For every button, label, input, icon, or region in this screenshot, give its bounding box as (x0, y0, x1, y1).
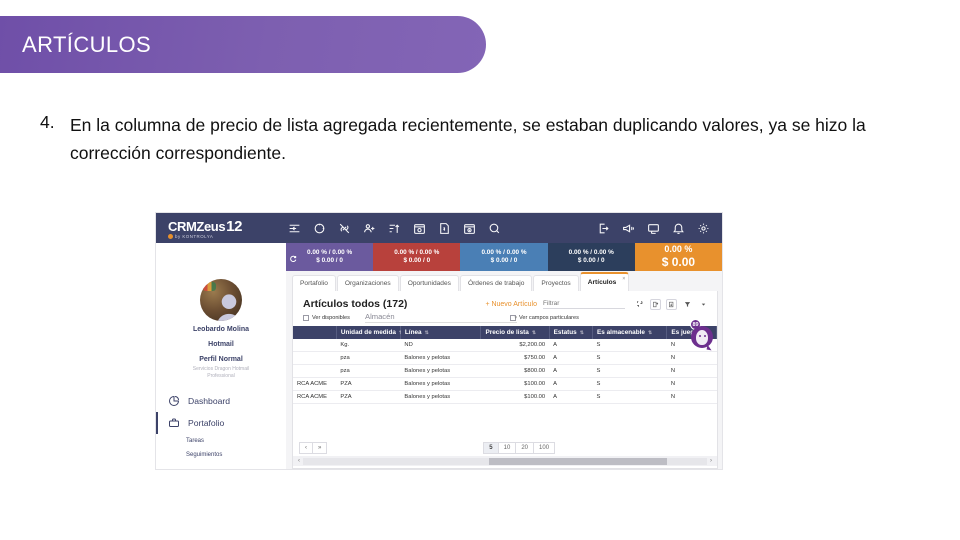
assistant-face-icon (696, 330, 708, 345)
cell-brand: RCA ACME (293, 391, 336, 404)
cell-linea: Balones y pelotas (400, 378, 481, 391)
calendar-search-icon[interactable] (413, 222, 426, 235)
col-label: Línea (405, 329, 422, 336)
pie-chart-icon (168, 395, 180, 407)
col-header-linea[interactable]: Línea⇅ (400, 326, 481, 339)
checkbox-ver-disponibles[interactable]: Ver disponibles (303, 315, 350, 321)
cell-juego: N (667, 352, 717, 365)
articulos-panel: Artículos todos (172) + Nuevo Artículo (292, 291, 718, 469)
tab-oportunidades[interactable]: Oportunidades (400, 275, 459, 291)
cell-estatus: A (549, 391, 592, 404)
brand-name: CRMZeus (168, 219, 225, 234)
kpi-line1: 0.00 % / 0.00 % (481, 249, 526, 257)
chevron-down-icon: ▾ (514, 315, 517, 321)
link-off-icon[interactable] (338, 222, 351, 235)
scroll-right-icon[interactable]: › (707, 458, 715, 464)
kpi-refresh-icon[interactable] (289, 255, 297, 263)
col-label: Unidad de medida (341, 329, 396, 336)
cell-um: pza (336, 352, 400, 365)
user-org: Servicios Dragon Hotmail (156, 366, 286, 374)
logout-icon[interactable] (597, 222, 610, 235)
export-button[interactable] (650, 299, 661, 310)
cell-brand (293, 365, 336, 378)
col-header-estatus[interactable]: Estatus⇅ (549, 326, 592, 339)
tab-label: Órdenes de trabajo (468, 280, 524, 287)
tab-articulos[interactable]: Artículos × (580, 272, 630, 291)
cell-juego: N (667, 365, 717, 378)
kpi-line1: 0.00 % (664, 244, 692, 255)
user-account: Hotmail (156, 340, 286, 351)
cell-brand (293, 339, 336, 352)
cell-almacenable: S (593, 339, 667, 352)
embedded-app-screenshot: CRMZeus12 by KONTROLYA (155, 212, 723, 470)
refresh-icon (636, 301, 643, 308)
kpi-line2: $ 0.00 / 0 (578, 257, 605, 265)
cell-juego: N (667, 378, 717, 391)
page-size-buttons: 5 10 20 100 (483, 442, 554, 454)
filter-button[interactable] (682, 299, 693, 310)
avatar[interactable] (200, 279, 242, 321)
slide-title-banner: ARTÍCULOS (0, 16, 500, 76)
sidebar: Leobardo Molina Hotmail Perfil Normal Se… (156, 271, 286, 469)
table-body: Kg. ND $2,200.00 A S N pza Balones y pel… (293, 339, 717, 404)
kpi-line2: $ 0.00 / 0 (491, 257, 518, 265)
cell-almacenable: S (593, 352, 667, 365)
cell-linea: Balones y pelotas (400, 365, 481, 378)
cell-precio: $100.00 (481, 378, 549, 391)
page-title: ARTÍCULOS (0, 32, 151, 58)
page-size-10[interactable]: 10 (498, 442, 517, 454)
table-row[interactable]: RCA ACME PZA Balones y pelotas $100.00 A… (293, 391, 717, 404)
user-profile: Perfil Normal (156, 355, 286, 366)
cell-um: PZA (336, 391, 400, 404)
cell-brand (293, 352, 336, 365)
chat-screen-icon[interactable] (647, 222, 660, 235)
col-label: Estatus (554, 329, 577, 336)
warehouse-select[interactable]: Almacén ▾ (365, 312, 517, 323)
col-header-precio-de-lista[interactable]: Precio de lista⇅ (481, 326, 549, 339)
table-row[interactable]: RCA ACME PZA Balones y pelotas $100.00 A… (293, 378, 717, 391)
cell-um: pza (336, 365, 400, 378)
checkbox-label: Ver disponibles (312, 315, 350, 321)
tab-label: Organizaciones (345, 280, 391, 287)
collapse-menu-icon[interactable] (288, 222, 301, 235)
invoice-dollar-icon[interactable] (438, 222, 451, 235)
table-row[interactable]: pza Balones y pelotas $800.00 A S N (293, 365, 717, 378)
page-size-100[interactable]: 100 (533, 442, 555, 454)
table-header-row: Unidad de medida⇅ Línea⇅ Precio de lista… (293, 326, 717, 339)
close-icon[interactable]: × (622, 276, 625, 282)
sidebar-item-portafolio[interactable]: Portafolio (156, 412, 286, 434)
new-article-link[interactable]: + Nuevo Artículo (485, 301, 537, 308)
brand-subtitle: by KONTROLYA (175, 234, 213, 239)
cell-almacenable: S (593, 365, 667, 378)
cell-precio: $750.00 (481, 352, 549, 365)
kpi-line2: $ 0.00 / 0 (316, 257, 343, 265)
assistant-widget[interactable]: 89 (687, 319, 713, 349)
kpi-strip-spacer (156, 243, 286, 271)
sidebar-item-label: Portafolio (188, 418, 224, 428)
kpi-line1: 0.00 % / 0.00 % (307, 249, 352, 257)
cell-um: Kg. (336, 339, 400, 352)
sidebar-subitem-seguimientos[interactable]: Seguimientos (156, 448, 286, 462)
cell-um: PZA (336, 378, 400, 391)
megaphone-icon[interactable] (622, 222, 635, 235)
assistant-bubble[interactable] (691, 326, 713, 348)
kpi-card-2[interactable]: 0.00 % / 0.00 % $ 0.00 / 0 (373, 243, 460, 271)
user-plan: Professional (156, 373, 286, 381)
panel-header: Artículos todos (172) + Nuevo Artículo (293, 291, 717, 321)
tab-organizaciones[interactable]: Organizaciones (337, 275, 399, 291)
top-nav-right-icons (597, 222, 716, 235)
tab-proyectos[interactable]: Proyectos (533, 275, 578, 291)
warehouse-select-value: Almacén (365, 312, 395, 321)
prev-page-button[interactable]: ‹ (299, 442, 313, 454)
tab-bar: Portafolio Organizaciones Oportunidades … (288, 271, 722, 291)
tab-label: Oportunidades (408, 280, 451, 287)
top-nav-left-icons (288, 222, 501, 235)
app-logo: CRMZeus12 by KONTROLYA (162, 218, 274, 239)
scroll-left-icon[interactable]: ‹ (295, 458, 303, 464)
export-icon (652, 301, 659, 308)
checkbox-label: Ver campos particulares (519, 315, 579, 321)
chevron-down-icon (700, 301, 707, 308)
col-header-es-almacenable[interactable]: Es almacenable⇅ (593, 326, 667, 339)
scrollbar-thumb[interactable] (489, 458, 667, 465)
col-label: Precio de lista (485, 329, 528, 336)
sort-list-icon[interactable] (388, 222, 401, 235)
filter-icon (684, 301, 691, 308)
scrollbar-track[interactable] (303, 458, 707, 465)
cell-almacenable: S (593, 378, 667, 391)
next-page-button[interactable]: » (312, 442, 327, 454)
sidebar-item-label: Dashboard (188, 396, 230, 406)
import-icon (668, 301, 675, 308)
filter-input[interactable] (543, 300, 625, 309)
cell-precio: $100.00 (481, 391, 549, 404)
kpi-line2: $ 0.00 (662, 255, 695, 270)
tab-label: Artículos (588, 279, 617, 286)
articulos-table: Unidad de medida⇅ Línea⇅ Precio de lista… (293, 326, 717, 404)
tab-ordenes-de-trabajo[interactable]: Órdenes de trabajo (460, 275, 532, 291)
table-row[interactable]: Kg. ND $2,200.00 A S N (293, 339, 717, 352)
cell-brand: RCA ACME (293, 378, 336, 391)
cell-estatus: A (549, 339, 592, 352)
bullet-number: 4. (40, 112, 70, 167)
more-dropdown-button[interactable] (698, 299, 709, 310)
kpi-strip: 0.00 % / 0.00 % $ 0.00 / 0 0.00 % / 0.00… (156, 243, 722, 271)
import-button[interactable] (666, 299, 677, 310)
sidebar-nav: Dashboard Portafolio Tareas Seguimientos (156, 390, 286, 462)
bullet-text: En la columna de precio de lista agregad… (70, 112, 870, 167)
table-row[interactable]: pza Balones y pelotas $750.00 A S N (293, 352, 717, 365)
col-label: Es almacenable (597, 329, 645, 336)
list-title: Artículos todos (172) (303, 298, 407, 310)
add-people-icon[interactable] (363, 222, 376, 235)
page-size-20[interactable]: 20 (515, 442, 534, 454)
checkbox-box-icon (303, 315, 309, 321)
bell-icon[interactable] (672, 222, 685, 235)
bullet-item: 4. En la columna de precio de lista agre… (40, 112, 870, 167)
tab-label: Portafolio (300, 280, 328, 287)
cell-estatus: A (549, 378, 592, 391)
kpi-line1: 0.00 % / 0.00 % (394, 249, 439, 257)
kpi-list: 0.00 % / 0.00 % $ 0.00 / 0 0.00 % / 0.00… (286, 243, 722, 271)
crm-sync-icon[interactable] (313, 222, 326, 235)
tab-label: Proyectos (541, 280, 570, 287)
page-nav-buttons: ‹ » (299, 442, 326, 454)
cell-linea: ND (400, 339, 481, 352)
page-size-5[interactable]: 5 (483, 442, 498, 454)
gear-icon[interactable] (697, 222, 710, 235)
app-top-bar: CRMZeus12 by KONTROLYA (156, 213, 722, 243)
user-name: Leobardo Molina (156, 325, 286, 336)
panel-tools (634, 299, 709, 310)
kpi-card-3[interactable]: 0.00 % / 0.00 % $ 0.00 / 0 (460, 243, 547, 271)
cell-precio: $2,200.00 (481, 339, 549, 352)
search-icon[interactable] (488, 222, 501, 235)
cell-linea: Balones y pelotas (400, 352, 481, 365)
avatar-wrap (156, 279, 286, 321)
col-header-brand[interactable] (293, 326, 336, 339)
calendar-clock-icon[interactable] (463, 222, 476, 235)
horizontal-scrollbar[interactable]: ‹ › (293, 456, 717, 466)
briefcase-icon (168, 417, 180, 429)
kpi-card-1[interactable]: 0.00 % / 0.00 % $ 0.00 / 0 (286, 243, 373, 271)
cell-precio: $800.00 (481, 365, 549, 378)
app-body: Leobardo Molina Hotmail Perfil Normal Se… (156, 271, 722, 469)
tab-portafolio[interactable]: Portafolio (292, 275, 336, 291)
kpi-line2: $ 0.00 / 0 (403, 257, 430, 265)
sidebar-subitem-tareas[interactable]: Tareas (156, 434, 286, 448)
cell-estatus: A (549, 352, 592, 365)
brand-version: 12 (226, 218, 242, 235)
pagination: ‹ » 5 10 20 100 (293, 442, 717, 454)
kpi-card-5[interactable]: 0.00 % $ 0.00 (635, 243, 722, 271)
refresh-button[interactable] (634, 299, 645, 310)
checkbox-ver-campos-particulares[interactable]: Ver campos particulares (510, 315, 579, 321)
cell-juego: N (667, 391, 717, 404)
brand-dot-icon (168, 234, 173, 239)
col-header-unidad-de-medida[interactable]: Unidad de medida⇅ (336, 326, 400, 339)
content-pane: Portafolio Organizaciones Oportunidades … (286, 271, 722, 469)
kpi-card-4[interactable]: 0.00 % / 0.00 % $ 0.00 / 0 (548, 243, 635, 271)
cell-estatus: A (549, 365, 592, 378)
slide-title-bar: ARTÍCULOS (0, 16, 486, 73)
sidebar-item-dashboard[interactable]: Dashboard (156, 390, 286, 412)
kpi-line1: 0.00 % / 0.00 % (569, 249, 614, 257)
cell-almacenable: S (593, 391, 667, 404)
cell-linea: Balones y pelotas (400, 391, 481, 404)
avatar-person-icon (214, 292, 242, 321)
